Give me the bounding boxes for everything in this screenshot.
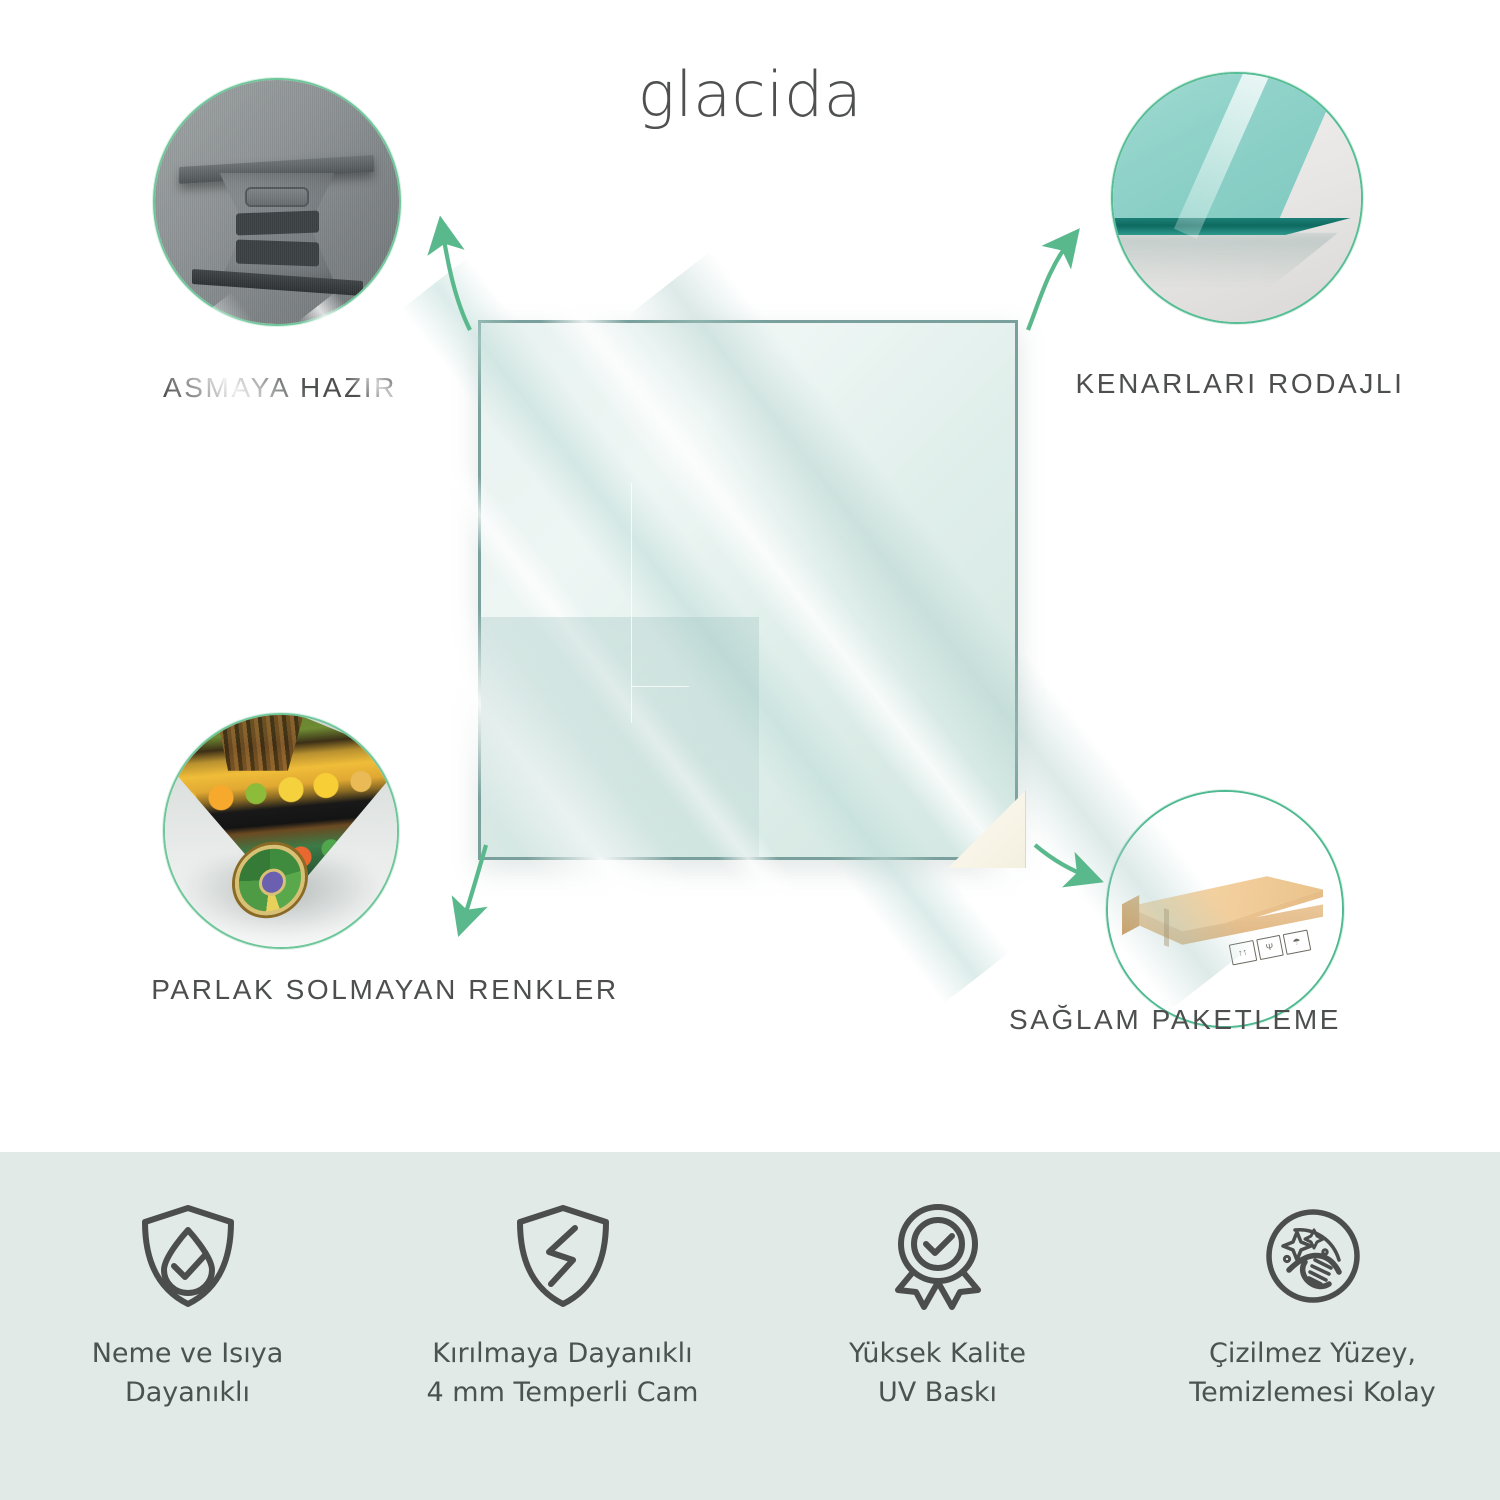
mosaic-background [165, 715, 397, 947]
award-ribbon-check-icon [768, 1200, 1108, 1312]
shield-lightning-icon [393, 1200, 733, 1312]
bracket-upper-cutout [236, 210, 319, 235]
sparkle-hand-wipe-icon [1143, 1200, 1483, 1312]
bracket-lower-cutout [236, 240, 319, 267]
glass-reflection-line [631, 686, 690, 687]
benefit-text: Yüksek Kalite UV Baskı [768, 1334, 1108, 1412]
fragile-glass-icon: Ψ [1255, 935, 1283, 960]
shield-water-drop-check-icon [18, 1200, 358, 1312]
caption-line: SAĞLAM [1009, 1004, 1141, 1035]
hero-section: glacida ASMAYA HAZIR KENARLARI RODAJLI [0, 0, 1500, 1152]
arrow-to-edges [1028, 238, 1072, 330]
feature-image-edges [1111, 72, 1363, 324]
benefit-line: Kırılmaya Dayanıklı [393, 1334, 733, 1373]
benefit-line: 4 mm Temperli Cam [393, 1373, 733, 1412]
caption-edges: KENARLARI RODAJLI [1040, 364, 1440, 404]
benefits-bar: Neme ve Isıya Dayanıklı Kırılmaya Dayanı… [0, 1152, 1500, 1500]
caption-colors: PARLAK SOLMAYAN RENKLER [130, 970, 640, 1010]
keep-dry-umbrella-icon: ☂ [1282, 930, 1310, 955]
feature-image-hanging [153, 78, 401, 326]
benefit-line: Çizilmez Yüzey, [1143, 1334, 1483, 1373]
caption-line: RODAJLI [1268, 368, 1404, 399]
benefit-line: Temizlemesi Kolay [1143, 1373, 1483, 1412]
benefit-line: UV Baskı [768, 1373, 1108, 1412]
product-glass-panel [478, 320, 1018, 860]
benefit-line: Dayanıklı [18, 1373, 358, 1412]
bracket-keyhole-slot [245, 187, 308, 207]
feature-image-colors [163, 713, 399, 949]
glass-reflection-block [481, 617, 759, 857]
caption-line: PARLAK [151, 974, 275, 1005]
benefit-easy-clean: Çizilmez Yüzey, Temizlemesi Kolay [1143, 1200, 1483, 1412]
edge-drop-shadow [1111, 233, 1349, 288]
benefit-text: Kırılmaya Dayanıklı 4 mm Temperli Cam [393, 1334, 733, 1412]
benefit-text: Neme ve Isıya Dayanıklı [18, 1334, 358, 1412]
benefit-print-quality: Yüksek Kalite UV Baskı [768, 1200, 1108, 1412]
caption-line: PAKETLEME [1152, 1004, 1341, 1035]
bracket-bottom-flange [192, 269, 363, 296]
glass-reflection-line [631, 483, 632, 723]
caption-line: KENARLARI [1076, 368, 1258, 399]
benefit-line: Yüksek Kalite [768, 1334, 1108, 1373]
benefit-line: Neme ve Isıya [18, 1334, 358, 1373]
edge-background [1113, 74, 1361, 322]
metal-background [155, 80, 399, 324]
benefit-moisture-heat: Neme ve Isıya Dayanıklı [18, 1200, 358, 1412]
bracket-body [209, 173, 346, 283]
caption-line: SOLMAYAN RENKLER [286, 974, 619, 1005]
bracket-top-flange [179, 155, 374, 184]
polished-edge-band [1111, 218, 1351, 235]
benefit-text: Çizilmez Yüzey, Temizlemesi Kolay [1143, 1334, 1483, 1412]
benefit-shatter-resistant: Kırılmaya Dayanıklı 4 mm Temperli Cam [393, 1200, 733, 1412]
